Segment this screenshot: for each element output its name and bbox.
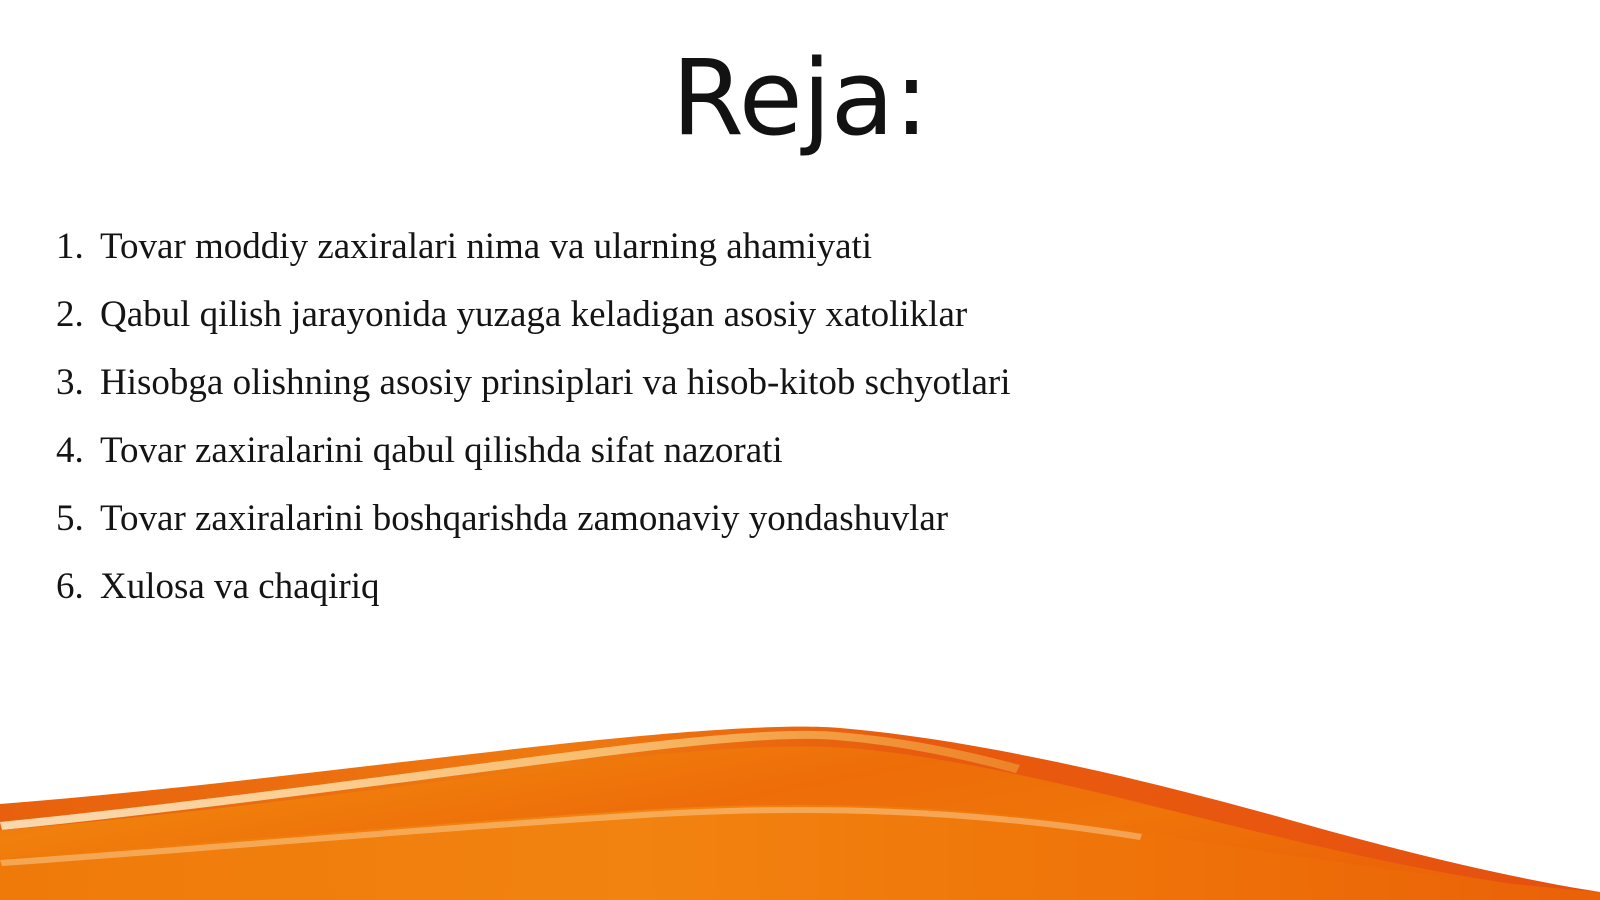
orange-wave-decoration — [0, 700, 1600, 900]
list-item-label: Qabul qilish jarayonida yuzaga keladigan… — [100, 296, 967, 333]
list-item-label: Tovar moddiy zaxiralari nima va ularning… — [100, 228, 872, 265]
page-title: Reja: — [0, 42, 1600, 154]
agenda-list: 1. Tovar moddiy zaxiralari nima va ularn… — [56, 228, 1456, 636]
list-item: 4. Tovar zaxiralarini qabul qilishda sif… — [56, 432, 1456, 500]
list-item-number: 3. — [56, 364, 100, 401]
presentation-slide: Reja: 1. Tovar moddiy zaxiralari nima va… — [0, 0, 1600, 900]
list-item: 1. Tovar moddiy zaxiralari nima va ularn… — [56, 228, 1456, 296]
list-item: 6. Xulosa va chaqiriq — [56, 568, 1456, 636]
list-item-number: 1. — [56, 228, 100, 265]
wave-lower-highlight — [0, 807, 1142, 866]
wave-highlight-stripe — [0, 731, 1020, 830]
list-item-number: 2. — [56, 296, 100, 333]
list-item-label: Hisobga olishning asosiy prinsiplari va … — [100, 364, 1011, 401]
wave-layer-lower — [0, 805, 1600, 900]
list-item-number: 5. — [56, 500, 100, 537]
wave-layer-back — [0, 727, 1600, 900]
list-item: 5. Tovar zaxiralarini boshqarishda zamon… — [56, 500, 1456, 568]
list-item: 2. Qabul qilish jarayonida yuzaga keladi… — [56, 296, 1456, 364]
list-item-label: Tovar zaxiralarini boshqarishda zamonavi… — [100, 500, 948, 537]
list-item-label: Tovar zaxiralarini qabul qilishda sifat … — [100, 432, 783, 469]
list-item-label: Xulosa va chaqiriq — [100, 568, 379, 605]
wave-accent-line — [30, 748, 828, 838]
wave-layer-main — [0, 747, 1600, 900]
wave-graphic — [0, 700, 1600, 900]
list-item-number: 4. — [56, 432, 100, 469]
list-item: 3. Hisobga olishning asosiy prinsiplari … — [56, 364, 1456, 432]
list-item-number: 6. — [56, 568, 100, 605]
